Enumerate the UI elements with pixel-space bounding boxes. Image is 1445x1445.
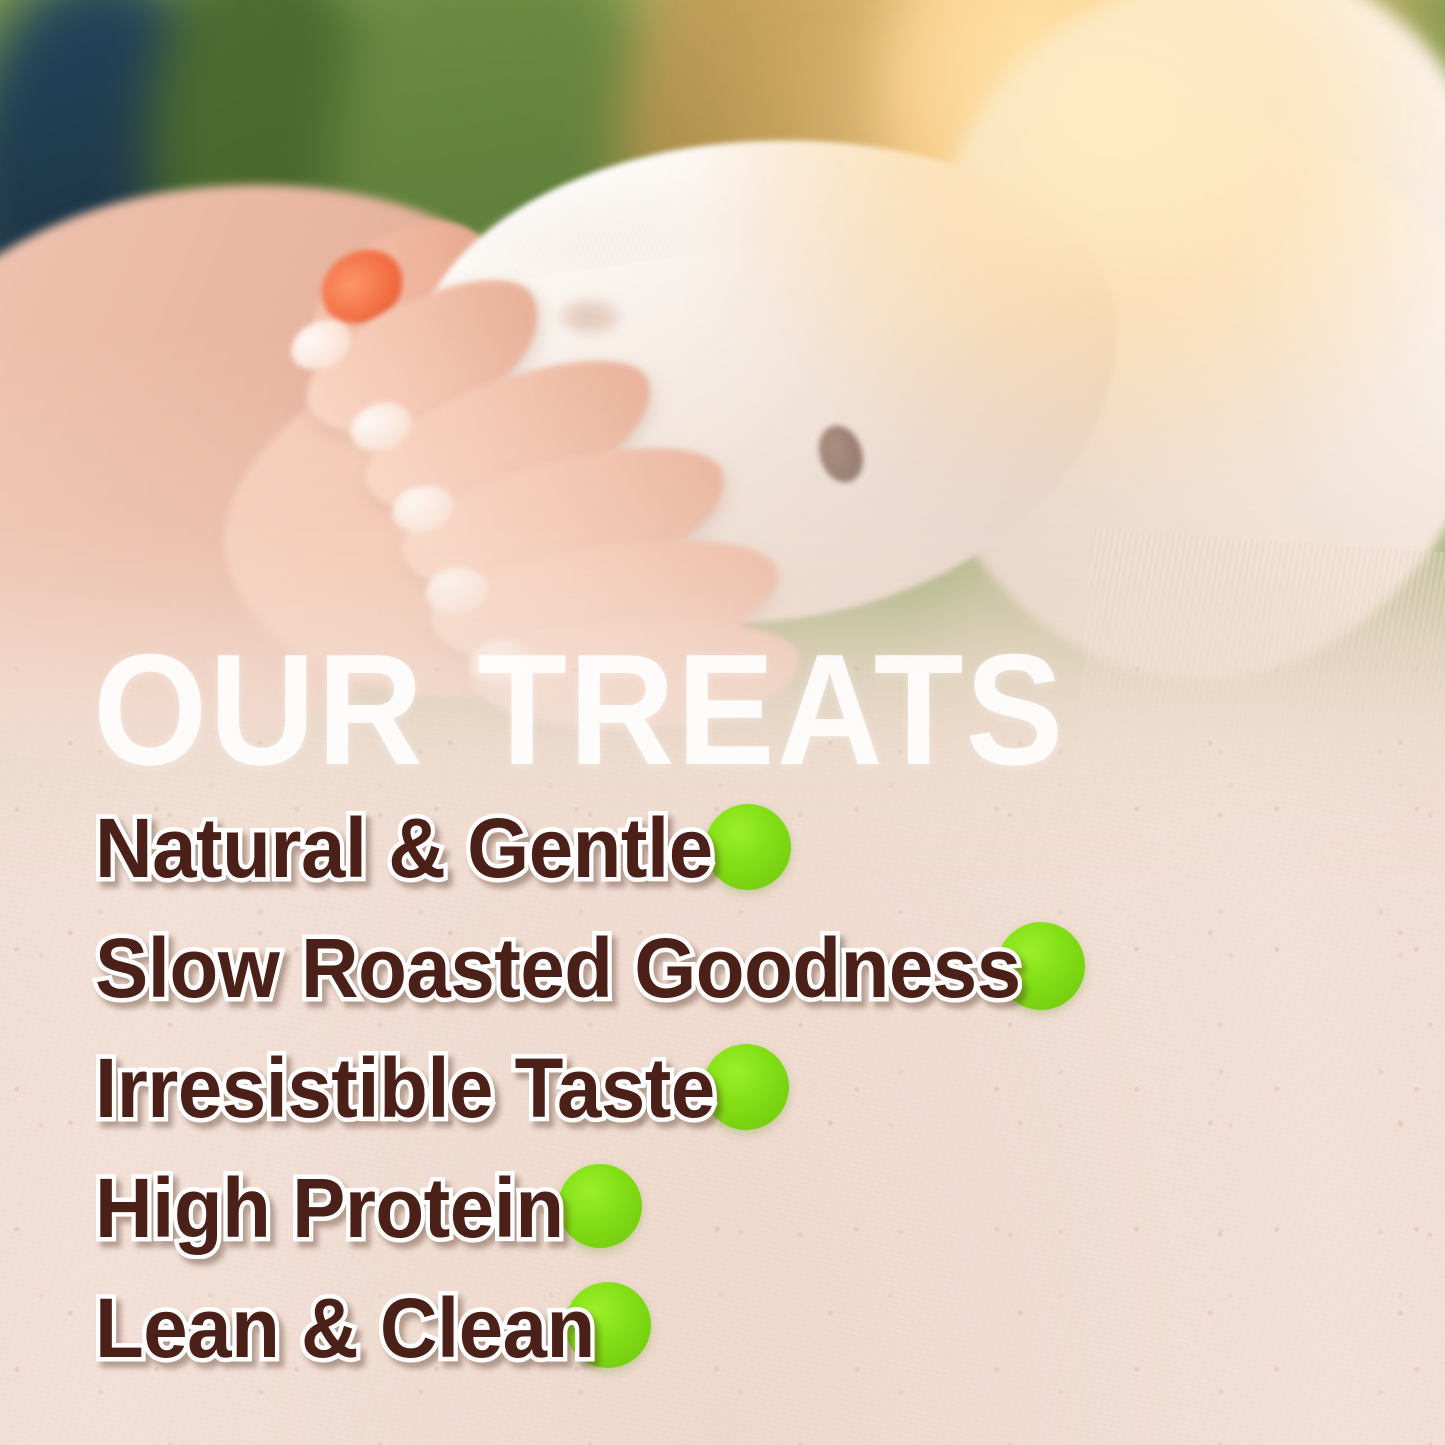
poster: OURTREATS Natural & Gentle Slow Roasted … — [0, 0, 1445, 1445]
list-item: Slow Roasted Goodness — [0, 920, 1445, 1040]
green-circle-icon — [703, 1044, 789, 1130]
feature-label: Lean & Clean — [95, 1286, 595, 1370]
feature-label: Natural & Gentle — [95, 806, 713, 890]
feature-label: Irresistible Taste — [95, 1046, 715, 1130]
list-item: High Protein — [0, 1160, 1445, 1280]
feature-list: Natural & Gentle Slow Roasted Goodness I… — [0, 800, 1445, 1400]
feature-label: High Protein — [95, 1166, 564, 1250]
title-word-our: OUR — [93, 622, 425, 798]
paw-marking — [560, 300, 620, 334]
list-item: Natural & Gentle — [0, 800, 1445, 920]
green-circle-icon — [558, 1164, 642, 1248]
list-item: Lean & Clean — [0, 1280, 1445, 1400]
list-item: Irresistible Taste — [0, 1040, 1445, 1160]
title-word-treats: TREATS — [477, 622, 1065, 798]
page-title: OURTREATS — [93, 640, 1065, 780]
green-circle-icon — [705, 804, 791, 890]
feature-label: Slow Roasted Goodness — [95, 926, 1021, 1010]
